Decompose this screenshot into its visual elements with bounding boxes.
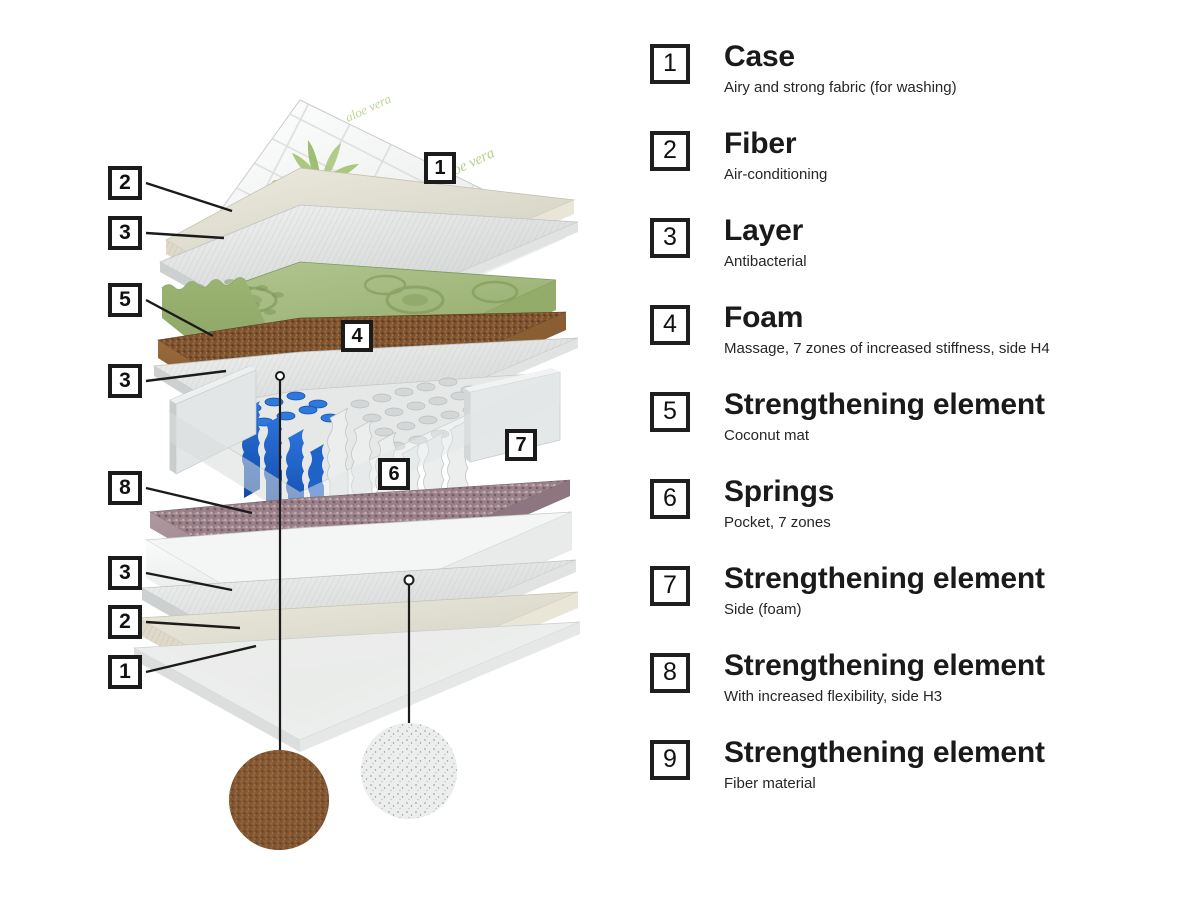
aloe-vera-text-top: aloe vera — [343, 91, 394, 125]
legend-sub-6: Pocket, 7 zones — [724, 513, 1190, 533]
legend-text-1: Case Airy and strong fabric (for washing… — [724, 40, 1190, 98]
legend-text-2: Fiber Air-conditioning — [724, 127, 1190, 185]
legend-sub-2: Air-conditioning — [724, 165, 1190, 185]
legend-number-2: 2 — [650, 131, 690, 171]
legend-title-5: Strengthening element — [724, 388, 1190, 422]
legend-number-9: 9 — [650, 740, 690, 780]
legend-sub-5: Coconut mat — [724, 426, 1190, 446]
legend-title-3: Layer — [724, 214, 1190, 248]
callout-1-top-cover: 1 — [424, 152, 456, 184]
legend-number-5: 5 — [650, 392, 690, 432]
mattress-layers-infographic: aloe vera aloe vera aloe vera — [0, 0, 1200, 900]
callout-3-layer-top: 3 — [108, 216, 142, 250]
legend-sub-7: Side (foam) — [724, 600, 1190, 620]
legend-title-6: Springs — [724, 475, 1190, 509]
legend-text-7: Strengthening element Side (foam) — [724, 562, 1190, 620]
legend-number-8: 8 — [650, 653, 690, 693]
coconut-fiber-sample — [229, 750, 329, 850]
legend-sub-1: Airy and strong fabric (for washing) — [724, 78, 1190, 98]
legend-item-5: 5 Strengthening element Coconut mat — [650, 388, 1190, 446]
legend-number-4: 4 — [650, 305, 690, 345]
legend-item-6: 6 Springs Pocket, 7 zones — [650, 475, 1190, 533]
callout-2-fiber-bottom: 2 — [108, 605, 142, 639]
legend-title-7: Strengthening element — [724, 562, 1190, 596]
legend-title-9: Strengthening element — [724, 736, 1190, 770]
foam-material-sample — [361, 723, 457, 819]
legend-list: 1 Case Airy and strong fabric (for washi… — [650, 40, 1190, 870]
legend-item-4: 4 Foam Massage, 7 zones of increased sti… — [650, 301, 1190, 359]
legend-sub-3: Antibacterial — [724, 252, 1190, 272]
legend-item-7: 7 Strengthening element Side (foam) — [650, 562, 1190, 620]
callout-6-springs: 6 — [378, 458, 410, 490]
legend-text-4: Foam Massage, 7 zones of increased stiff… — [724, 301, 1190, 359]
legend-sub-8: With increased flexibility, side H3 — [724, 687, 1190, 707]
callout-3-layer-bottom: 3 — [108, 556, 142, 590]
legend-text-9: Strengthening element Fiber material — [724, 736, 1190, 794]
legend-sub-9: Fiber material — [724, 774, 1190, 794]
legend-title-2: Fiber — [724, 127, 1190, 161]
legend-title-1: Case — [724, 40, 1190, 74]
legend-title-4: Foam — [724, 301, 1190, 335]
legend-text-3: Layer Antibacterial — [724, 214, 1190, 272]
legend-item-8: 8 Strengthening element With increased f… — [650, 649, 1190, 707]
legend-number-3: 3 — [650, 218, 690, 258]
callout-1-bottom-cover: 1 — [108, 655, 142, 689]
legend-text-5: Strengthening element Coconut mat — [724, 388, 1190, 446]
exploded-mattress-diagram: aloe vera aloe vera aloe vera — [0, 0, 640, 900]
legend-number-1: 1 — [650, 44, 690, 84]
legend-item-3: 3 Layer Antibacterial — [650, 214, 1190, 272]
legend-sub-4: Massage, 7 zones of increased stiffness,… — [724, 339, 1190, 359]
legend-text-6: Springs Pocket, 7 zones — [724, 475, 1190, 533]
legend-item-2: 2 Fiber Air-conditioning — [650, 127, 1190, 185]
legend-title-8: Strengthening element — [724, 649, 1190, 683]
callout-2-fiber-top: 2 — [108, 166, 142, 200]
callout-4-massage-foam: 4 — [341, 320, 373, 352]
legend-item-1: 1 Case Airy and strong fabric (for washi… — [650, 40, 1190, 98]
callout-8-flex-element: 8 — [108, 471, 142, 505]
legend-number-6: 6 — [650, 479, 690, 519]
callout-5-coconut: 5 — [108, 283, 142, 317]
legend-item-9: 9 Strengthening element Fiber material — [650, 736, 1190, 794]
callout-3-layer-mid: 3 — [108, 364, 142, 398]
legend-number-7: 7 — [650, 566, 690, 606]
callout-7-side-foam: 7 — [505, 429, 537, 461]
legend-text-8: Strengthening element With increased fle… — [724, 649, 1190, 707]
diagram-svg: aloe vera aloe vera aloe vera — [0, 0, 640, 900]
